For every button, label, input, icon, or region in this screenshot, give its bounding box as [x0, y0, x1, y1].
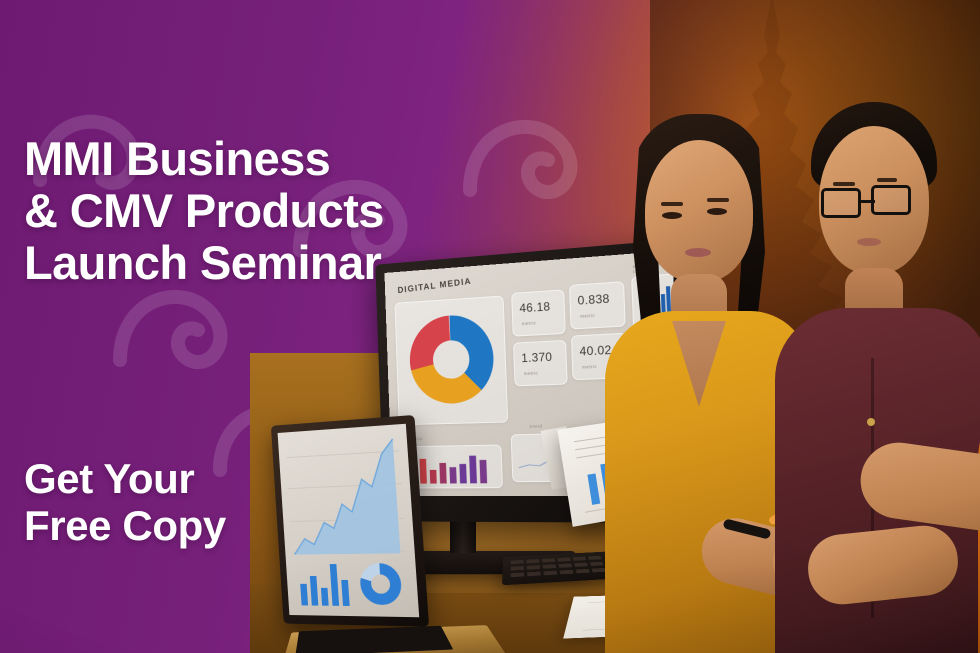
line-panel-label: trend — [530, 424, 543, 429]
kpi-value-3: 1.370 — [521, 350, 552, 365]
seminar-promo-banner: DIGITAL MEDIA 46.18 metric 0.838 m — [0, 0, 980, 653]
donut-panel — [394, 295, 508, 425]
laptop — [258, 420, 488, 653]
laptop-donut-chart — [361, 565, 401, 604]
laptop-dashboard — [278, 424, 420, 617]
page-title: MMI Business & CMV Products Launch Semin… — [24, 133, 384, 289]
kpi-card-3: 1.370 metric — [513, 340, 568, 387]
kpi-sub-2: metric — [580, 313, 595, 319]
laptop-bars-chart — [299, 564, 350, 606]
kpi-sub-3: metric — [524, 370, 539, 376]
dashboard-title: DIGITAL MEDIA — [397, 276, 472, 295]
face — [645, 140, 753, 282]
photo-composition: DIGITAL MEDIA 46.18 metric 0.838 m — [250, 0, 980, 653]
kpi-sub-1: metric — [522, 320, 536, 326]
laptop-screen — [278, 424, 420, 617]
kpi-sub-4: metric — [582, 364, 597, 370]
kpi-value-1: 46.18 — [519, 299, 550, 315]
monitor-donut-main-chart — [405, 309, 499, 409]
kpi-card-1: 46.18 metric — [511, 289, 566, 336]
call-to-action-text: Get Your Free Copy — [24, 455, 226, 549]
laptop-keyboard[interactable] — [295, 626, 453, 653]
